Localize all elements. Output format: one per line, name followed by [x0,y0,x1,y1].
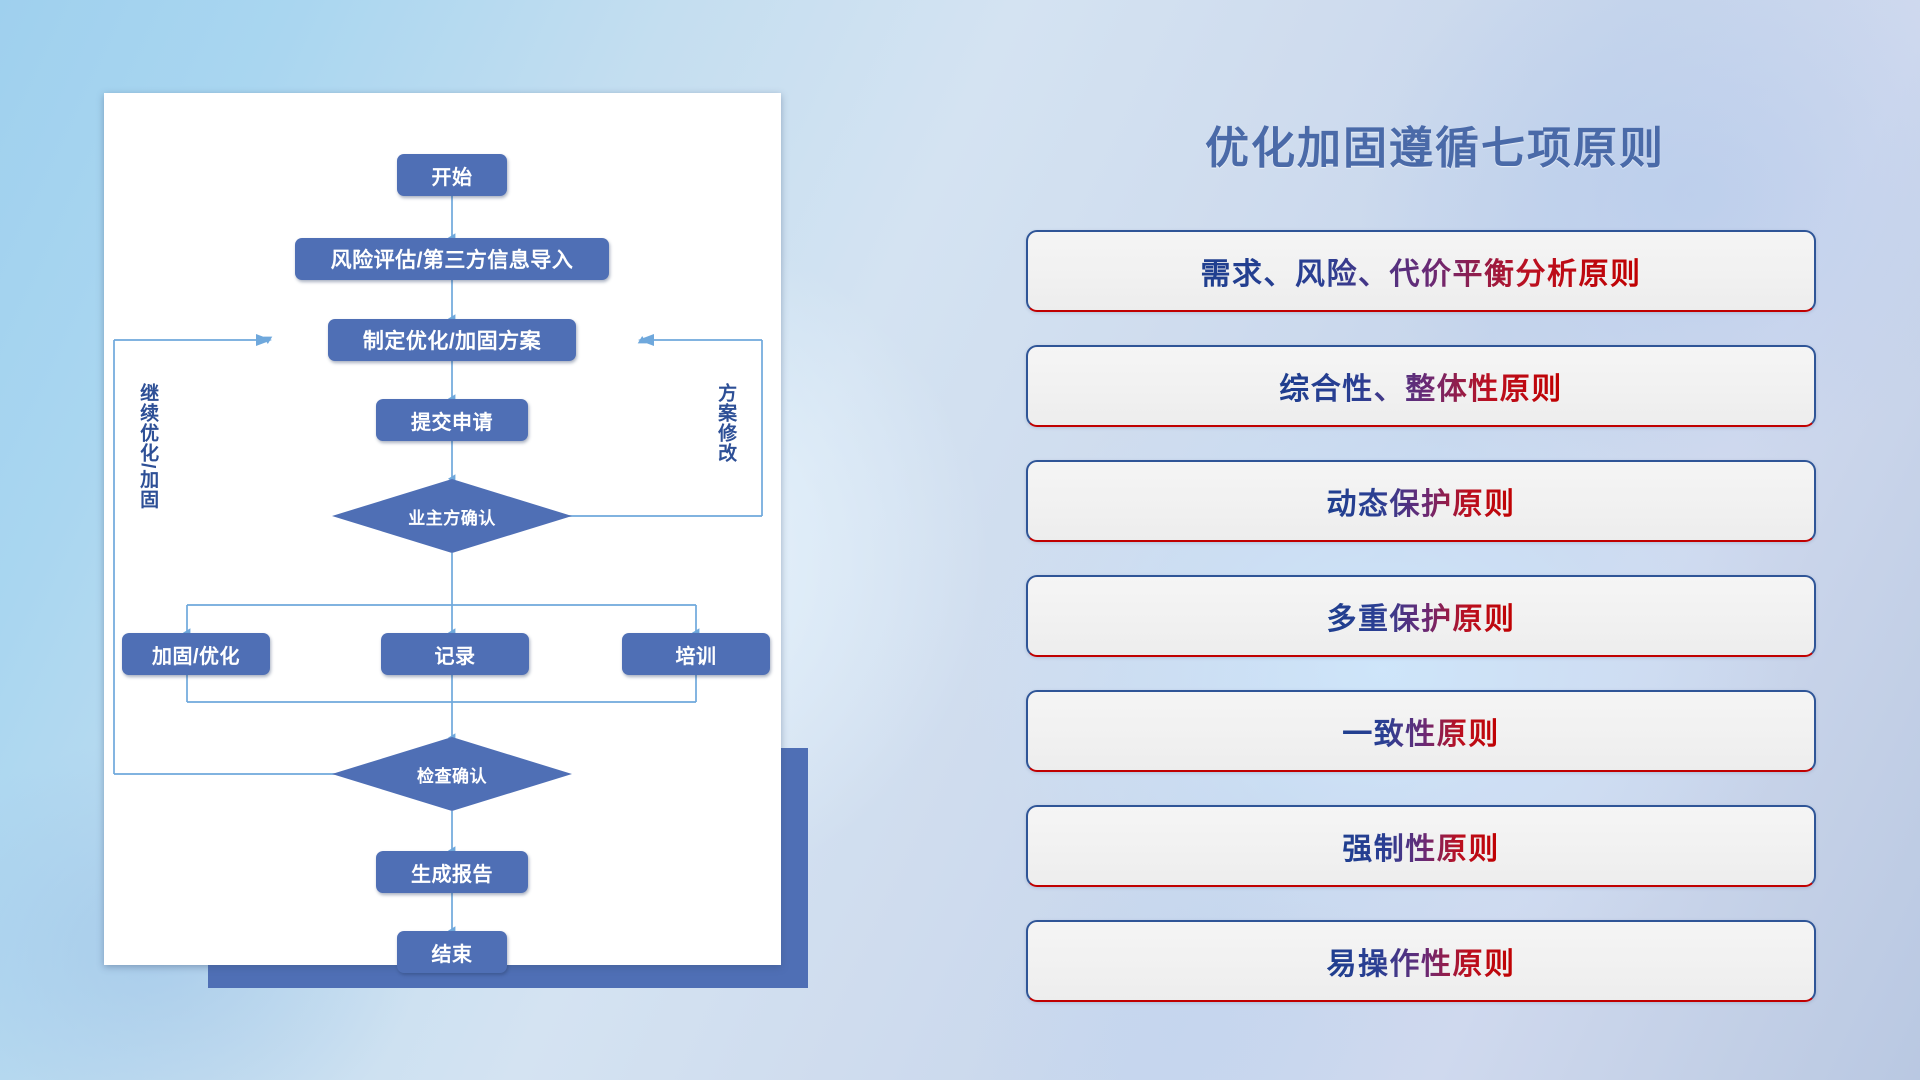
principle-card-3[interactable]: 动态保护原则 [1026,460,1816,542]
principle-label: 多重保护原则 [1327,594,1516,638]
flow-node-generate-report: 生成报告 [376,851,528,893]
principle-label: 需求、风险、代价平衡分析原则 [1201,249,1642,293]
flow-edge-label-plan-revision: 方案修改 [715,383,735,503]
principle-card-2[interactable]: 综合性、整体性原则 [1026,345,1816,427]
flow-node-label: 风险评估/第三方信息导入 [331,244,574,274]
flow-node-owner-confirm: 业主方确认 [332,479,572,553]
flow-node-label: 制定优化/加固方案 [363,325,541,355]
page-title: 优化加固遵循七项原则 [1020,112,1850,176]
flow-node-label: 生成报告 [411,858,493,887]
principles-list: 需求、风险、代价平衡分析原则 综合性、整体性原则 动态保护原则 多重保护原则 一… [1026,230,1816,1035]
flow-node-record: 记录 [381,633,529,675]
flow-node-label: 开始 [432,161,473,190]
principle-card-5[interactable]: 一致性原则 [1026,690,1816,772]
principle-label: 一致性原则 [1342,709,1500,753]
flow-node-label: 提交申请 [411,406,493,435]
flow-node-plan: 制定优化/加固方案 [328,319,576,361]
flow-node-label: 业主方确认 [332,479,572,553]
flowchart-panel: 开始 风险评估/第三方信息导入 制定优化/加固方案 提交申请 业主方确认 加固/… [104,93,781,965]
flow-node-training: 培训 [622,633,770,675]
principle-label: 动态保护原则 [1327,479,1516,523]
flow-node-label: 检查确认 [332,737,572,811]
principle-card-1[interactable]: 需求、风险、代价平衡分析原则 [1026,230,1816,312]
flow-node-label: 结束 [432,938,473,967]
flow-node-submit-application: 提交申请 [376,399,528,441]
principle-card-7[interactable]: 易操作性原则 [1026,920,1816,1002]
principles-panel: 优化加固遵循七项原则 需求、风险、代价平衡分析原则 综合性、整体性原则 动态保护… [1020,0,1850,1080]
principle-label: 综合性、整体性原则 [1279,364,1563,408]
flow-node-label: 记录 [435,640,476,669]
flow-edge-label-continue-optimize: 继续优化/加固 [137,383,157,553]
flow-node-label: 培训 [676,640,717,669]
flow-node-risk-assessment: 风险评估/第三方信息导入 [295,238,609,280]
principle-label: 易操作性原则 [1327,939,1516,983]
flow-node-start: 开始 [397,154,507,196]
principle-label: 强制性原则 [1342,824,1500,868]
flow-node-reinforce-optimize: 加固/优化 [122,633,270,675]
principle-card-6[interactable]: 强制性原则 [1026,805,1816,887]
principle-card-4[interactable]: 多重保护原则 [1026,575,1816,657]
flow-node-check-confirm: 检查确认 [332,737,572,811]
flow-node-end: 结束 [397,931,507,973]
flow-node-label: 加固/优化 [152,640,240,669]
